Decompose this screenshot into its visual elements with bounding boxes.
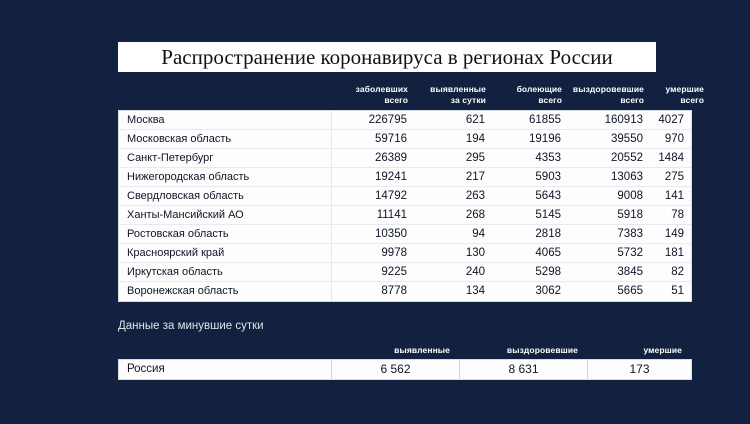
column-header-total-line1: заболевших: [332, 84, 408, 95]
cell-deaths: 82: [650, 263, 691, 282]
cell-active: 5643: [492, 187, 568, 206]
cell-daily: 621: [414, 111, 492, 130]
cell-daily: 217: [414, 168, 492, 187]
cell-region: Свердловская область: [119, 187, 332, 206]
cell-recovered: 3845: [568, 263, 650, 282]
cell-region: Санкт-Петербург: [119, 149, 332, 168]
cell-recovered: 5918: [568, 206, 650, 225]
cell-region: Ханты-Мансийский АО: [119, 206, 332, 225]
cell-daily: 94: [414, 225, 492, 244]
table-row: Ханты-Мансийский АО 11141 268 5145 5918 …: [119, 206, 691, 225]
summary-header-spacer: [118, 345, 332, 358]
column-header-daily-line2: за сутки: [414, 95, 486, 106]
summary-subtitle: Данные за минувшие сутки: [118, 320, 264, 332]
cell-daily: 240: [414, 263, 492, 282]
page-title: Распространение коронавируса в регионах …: [118, 42, 656, 72]
cell-active: 5903: [492, 168, 568, 187]
column-header-total-line2: всего: [332, 95, 408, 106]
cell-active: 4353: [492, 149, 568, 168]
cell-total: 9978: [332, 244, 414, 263]
cell-region: Москва: [119, 111, 332, 130]
cell-region: Ростовская область: [119, 225, 332, 244]
cell-deaths: 4027: [650, 111, 691, 130]
cell-recovered: 5732: [568, 244, 650, 263]
cell-recovered: 9008: [568, 187, 650, 206]
cell-daily: 263: [414, 187, 492, 206]
cell-deaths: 970: [650, 130, 691, 149]
table-row: Иркутская область 9225 240 5298 3845 82: [119, 263, 691, 282]
cell-deaths: 51: [650, 282, 691, 301]
table-row: Санкт-Петербург 26389 295 4353 20552 148…: [119, 149, 691, 168]
summary-column-header-deaths: умершие: [588, 345, 692, 358]
cell-region: Нижегородская область: [119, 168, 332, 187]
cell-daily: 268: [414, 206, 492, 225]
cell-recovered: 13063: [568, 168, 650, 187]
column-header-active-line1: болеющие: [492, 84, 562, 95]
summary-cell-recovered: 8 631: [460, 360, 588, 379]
cell-active: 61855: [492, 111, 568, 130]
cell-total: 59716: [332, 130, 414, 149]
cell-region: Московская область: [119, 130, 332, 149]
cell-total: 10350: [332, 225, 414, 244]
table-row: Московская область 59716 194 19196 39550…: [119, 130, 691, 149]
cell-recovered: 160913: [568, 111, 650, 130]
column-header-deaths: умершие всего: [650, 84, 710, 110]
cell-recovered: 5665: [568, 282, 650, 301]
table-row: Красноярский край 9978 130 4065 5732 181: [119, 244, 691, 263]
cell-total: 226795: [332, 111, 414, 130]
column-header-recovered-line1: выздоровевшие: [568, 84, 644, 95]
cell-daily: 130: [414, 244, 492, 263]
column-header-daily: выявленные за сутки: [414, 84, 492, 110]
cell-daily: 134: [414, 282, 492, 301]
summary-table-header: выявленные выздоровевшие умершие: [118, 345, 692, 358]
cell-region: Красноярский край: [119, 244, 332, 263]
column-header-recovered-line2: всего: [568, 95, 644, 106]
cell-daily: 194: [414, 130, 492, 149]
summary-cell-deaths: 173: [588, 360, 691, 379]
cell-deaths: 181: [650, 244, 691, 263]
cell-total: 14792: [332, 187, 414, 206]
slide-canvas: Распространение коронавируса в регионах …: [0, 0, 750, 424]
summary-table: Россия 6 562 8 631 173: [118, 359, 692, 380]
cell-region: Воронежская область: [119, 282, 332, 301]
table-row: Свердловская область 14792 263 5643 9008…: [119, 187, 691, 206]
table-row: Москва 226795 621 61855 160913 4027: [119, 111, 691, 130]
table-row: Ростовская область 10350 94 2818 7383 14…: [119, 225, 691, 244]
page-title-text: Распространение коронавируса в регионах …: [161, 47, 612, 68]
cell-total: 26389: [332, 149, 414, 168]
cell-active: 19196: [492, 130, 568, 149]
cell-total: 11141: [332, 206, 414, 225]
cell-active: 5145: [492, 206, 568, 225]
column-header-active: болеющие всего: [492, 84, 568, 110]
column-header-daily-line1: выявленные: [414, 84, 486, 95]
cell-region: Иркутская область: [119, 263, 332, 282]
cell-daily: 295: [414, 149, 492, 168]
column-header-recovered: выздоровевшие всего: [568, 84, 650, 110]
summary-cell-detected: 6 562: [332, 360, 460, 379]
column-header-total: заболевших всего: [332, 84, 414, 110]
summary-column-header-detected: выявленные: [332, 345, 460, 358]
header-spacer: [118, 84, 332, 110]
cell-deaths: 275: [650, 168, 691, 187]
cell-active: 5298: [492, 263, 568, 282]
cell-total: 9225: [332, 263, 414, 282]
table-row: Нижегородская область 19241 217 5903 130…: [119, 168, 691, 187]
cell-recovered: 39550: [568, 130, 650, 149]
cell-recovered: 20552: [568, 149, 650, 168]
table-row: Воронежская область 8778 134 3062 5665 5…: [119, 282, 691, 301]
cell-deaths: 141: [650, 187, 691, 206]
main-table: Москва 226795 621 61855 160913 4027 Моск…: [118, 110, 692, 302]
cell-total: 19241: [332, 168, 414, 187]
cell-deaths: 78: [650, 206, 691, 225]
cell-deaths: 149: [650, 225, 691, 244]
cell-active: 3062: [492, 282, 568, 301]
column-header-deaths-line1: умершие: [650, 84, 704, 95]
column-header-deaths-line2: всего: [650, 95, 704, 106]
cell-deaths: 1484: [650, 149, 691, 168]
summary-cell-country: Россия: [119, 360, 332, 379]
cell-active: 2818: [492, 225, 568, 244]
main-table-header: заболевших всего выявленные за сутки бол…: [118, 84, 692, 110]
cell-recovered: 7383: [568, 225, 650, 244]
cell-total: 8778: [332, 282, 414, 301]
column-header-active-line2: всего: [492, 95, 562, 106]
cell-active: 4065: [492, 244, 568, 263]
summary-column-header-recovered: выздоровевшие: [460, 345, 588, 358]
